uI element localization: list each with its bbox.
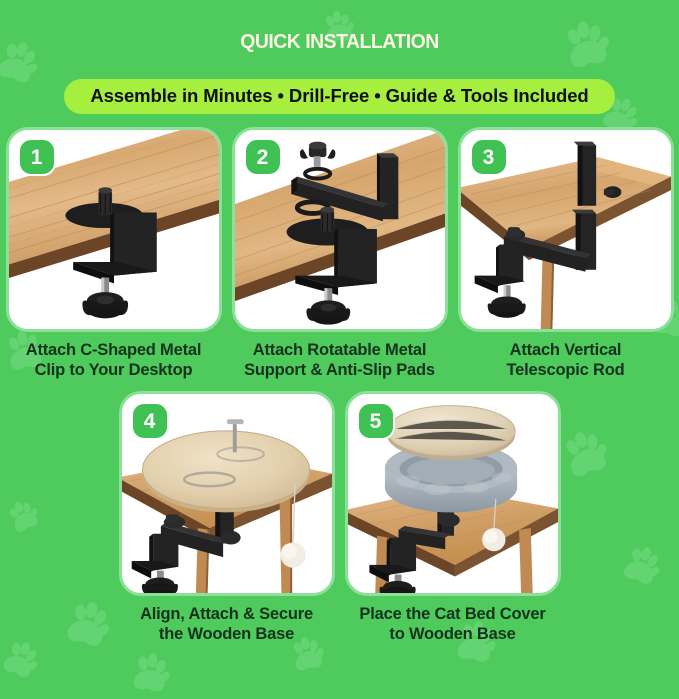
step-number-badge: 2 (244, 138, 282, 176)
step-4-image: 4 (119, 391, 335, 596)
step-card-5: 5 Place the Cat Bed Cover to Wooden Base (345, 391, 561, 644)
caption-line: Attach Vertical (451, 341, 679, 361)
caption-line: Clip to Your Desktop (0, 361, 229, 381)
step-caption: Attach Vertical Telescopic Rod (451, 341, 679, 380)
step-card-1: 1 Attach C-Shaped Metal Clip to Your Des… (6, 127, 222, 380)
subtitle-pill: Assemble in Minutes • Drill-Free • Guide… (64, 79, 614, 114)
caption-line: Support & Anti-Slip Pads (225, 361, 455, 381)
header: QUICK INSTALLATION Assemble in Minutes •… (0, 0, 679, 114)
step-number-badge: 1 (18, 138, 56, 176)
step-number-badge: 5 (357, 402, 395, 440)
step-1-image: 1 (6, 127, 222, 332)
step-caption: Align, Attach & Secure the Wooden Base (112, 605, 342, 644)
step-2-image: 2 (232, 127, 448, 332)
step-number-badge: 4 (131, 402, 169, 440)
steps-container: 1 Attach C-Shaped Metal Clip to Your Des… (0, 127, 679, 644)
caption-line: Attach C-Shaped Metal (0, 341, 229, 361)
caption-line: the Wooden Base (112, 625, 342, 645)
caption-line: Place the Cat Bed Cover (338, 605, 568, 625)
caption-line: Align, Attach & Secure (112, 605, 342, 625)
step-card-4: 4 Align, Attach & Secure the Wooden Base (119, 391, 335, 644)
step-3-image: 3 (458, 127, 674, 332)
step-caption: Place the Cat Bed Cover to Wooden Base (338, 605, 568, 644)
caption-line: to Wooden Base (338, 625, 568, 645)
step-card-2: 2 Attach Rotatable Metal Support & Anti-… (232, 127, 448, 380)
step-number-badge: 3 (470, 138, 508, 176)
caption-line: Attach Rotatable Metal (225, 341, 455, 361)
caption-line: Telescopic Rod (451, 361, 679, 381)
paw-print-icon (125, 649, 175, 699)
steps-row-bottom: 4 Align, Attach & Secure the Wooden Base (0, 391, 679, 644)
step-card-3: 3 Attach Vertical Telescopic Rod (458, 127, 674, 380)
step-caption: Attach Rotatable Metal Support & Anti-Sl… (225, 341, 455, 380)
step-caption: Attach C-Shaped Metal Clip to Your Deskt… (0, 341, 229, 380)
steps-row-top: 1 Attach C-Shaped Metal Clip to Your Des… (0, 127, 679, 380)
step-5-image: 5 (345, 391, 561, 596)
page-title: QUICK INSTALLATION (10, 14, 669, 70)
